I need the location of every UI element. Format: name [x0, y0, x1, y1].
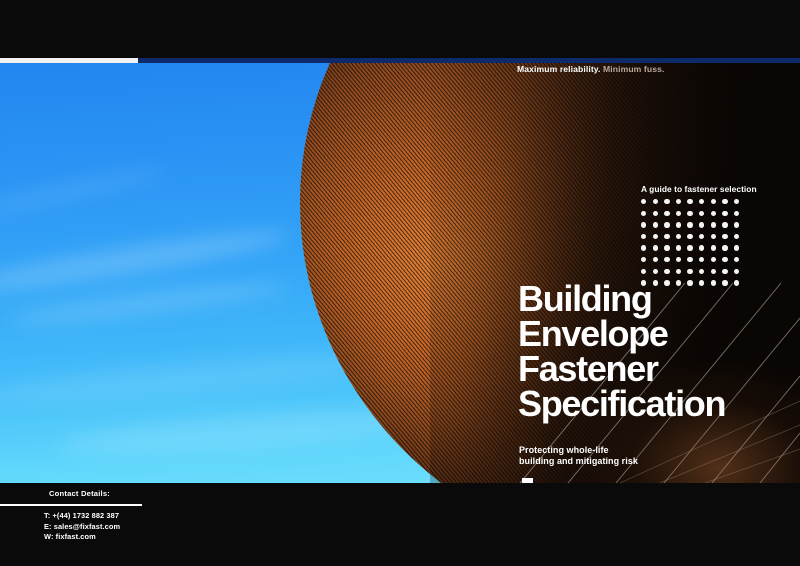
cover-page: FIXFAST FIXFAST	[0, 0, 800, 566]
dot	[711, 245, 716, 250]
dot	[687, 257, 692, 262]
dot	[722, 269, 727, 274]
page-title-line: Fastener	[518, 351, 725, 386]
dot	[734, 211, 739, 216]
page-subtitle-line: building and mitigating risk	[519, 456, 638, 467]
dot	[641, 245, 646, 250]
page-title-line: Building	[518, 281, 725, 316]
tagline-bright: Maximum reliability.	[517, 64, 601, 74]
page-subtitle: Protecting whole-lifebuilding and mitiga…	[519, 445, 638, 467]
page-subtitle-line: Protecting whole-life	[519, 445, 638, 456]
header-band	[0, 0, 800, 58]
dot	[687, 234, 692, 239]
dot	[664, 245, 669, 250]
dot	[687, 211, 692, 216]
dot	[676, 199, 681, 204]
dot	[664, 211, 669, 216]
dot	[734, 245, 739, 250]
dot	[687, 269, 692, 274]
dot	[699, 211, 704, 216]
contact-details-block: Contact Details: T: +(44) 1732 882 387E:…	[0, 483, 142, 566]
dot	[676, 234, 681, 239]
dot	[664, 269, 669, 274]
dot	[722, 222, 727, 227]
dot	[653, 269, 658, 274]
tagline-dim: Minimum fuss.	[601, 64, 665, 74]
header-stripe-navy	[138, 58, 800, 63]
dot	[722, 234, 727, 239]
contact-divider	[0, 504, 142, 506]
dot	[676, 222, 681, 227]
dot	[711, 199, 716, 204]
dot	[734, 257, 739, 262]
dot	[687, 222, 692, 227]
dot	[653, 234, 658, 239]
dot	[641, 199, 646, 204]
dot	[676, 269, 681, 274]
guide-label: A guide to fastener selection	[641, 184, 757, 194]
dot	[676, 245, 681, 250]
contact-details-list: T: +(44) 1732 882 387E: sales@fixfast.co…	[44, 511, 120, 543]
dot	[653, 257, 658, 262]
dot	[641, 234, 646, 239]
dot	[664, 257, 669, 262]
tagline: Maximum reliability. Minimum fuss.	[517, 64, 664, 74]
dot	[699, 245, 704, 250]
page-title: BuildingEnvelopeFastenerSpecification	[518, 281, 725, 421]
dot	[641, 222, 646, 227]
dot	[676, 211, 681, 216]
dot	[641, 269, 646, 274]
dot	[711, 269, 716, 274]
dot	[664, 222, 669, 227]
contact-details-title: Contact Details:	[49, 489, 110, 498]
dot	[641, 211, 646, 216]
dot	[722, 257, 727, 262]
dot	[711, 222, 716, 227]
dot	[699, 199, 704, 204]
dot	[711, 211, 716, 216]
header-stripe-white	[0, 58, 138, 63]
dot	[734, 280, 739, 285]
dot	[664, 199, 669, 204]
dot	[711, 234, 716, 239]
dot	[687, 245, 692, 250]
dot	[734, 234, 739, 239]
dot	[699, 234, 704, 239]
dot	[699, 257, 704, 262]
dot	[687, 199, 692, 204]
dot	[722, 245, 727, 250]
dot	[722, 199, 727, 204]
dot-grid-graphic	[641, 199, 745, 292]
dot	[676, 257, 681, 262]
dot	[699, 269, 704, 274]
cloud-wisp	[0, 162, 169, 219]
dot	[641, 257, 646, 262]
dot	[734, 199, 739, 204]
dot	[734, 222, 739, 227]
contact-phone[interactable]: T: +(44) 1732 882 387	[44, 511, 120, 522]
dot	[653, 211, 658, 216]
page-title-line: Specification	[518, 386, 725, 421]
dot	[653, 245, 658, 250]
contact-email[interactable]: E: sales@fixfast.com	[44, 522, 120, 533]
dot	[653, 199, 658, 204]
page-title-line: Envelope	[518, 316, 725, 351]
dot	[711, 257, 716, 262]
dot	[699, 222, 704, 227]
dot	[734, 269, 739, 274]
dot	[653, 222, 658, 227]
dot	[664, 234, 669, 239]
contact-website[interactable]: W: fixfast.com	[44, 532, 120, 543]
dot	[722, 211, 727, 216]
